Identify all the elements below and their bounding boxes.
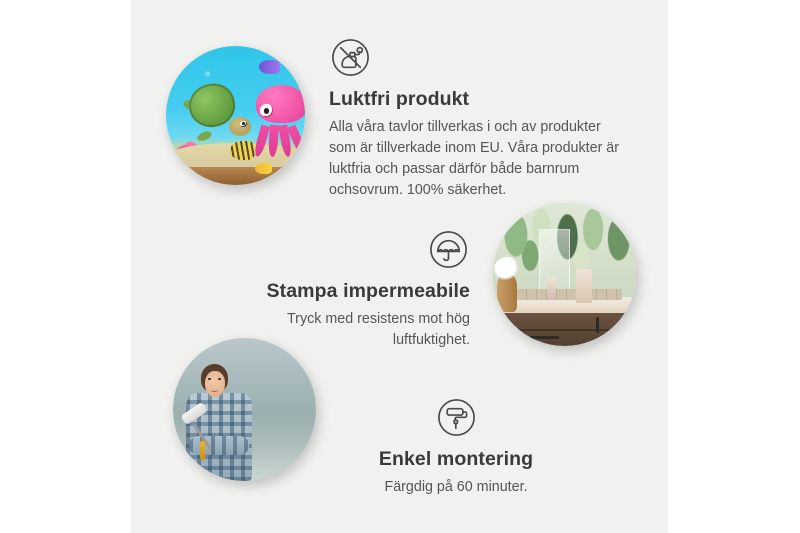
crossed-arms — [189, 436, 249, 455]
octopus — [249, 85, 305, 146]
feature-title: Luktfri produkt — [329, 88, 629, 111]
sea-floor-strip — [166, 167, 305, 185]
smile — [211, 387, 219, 392]
cabinet-handle — [596, 317, 599, 333]
soap-dispenser — [547, 277, 556, 300]
underwater-scene-art — [166, 46, 305, 185]
paint-roller-icon — [435, 396, 478, 439]
feature-description: Färgdig på 60 minuter. — [331, 477, 581, 498]
feature-text-stampa-impermeabile: Stampa impermeabile Tryck med resistens … — [216, 228, 470, 351]
umbrella-icon — [427, 228, 470, 271]
underwater-cartoon-circle-image — [166, 46, 305, 185]
face — [205, 371, 225, 397]
white-flowers — [494, 257, 521, 281]
bathroom-scene-art — [493, 203, 636, 346]
feature-description: Alla våra tavlor tillverkas i och av pro… — [329, 117, 629, 201]
yellow-striped-fish — [230, 141, 255, 160]
feature-title: Stampa impermeabile — [216, 280, 470, 303]
feature-text-enkel-montering: Enkel montering Färgdig på 60 minuter. — [331, 396, 581, 498]
woman-figure — [184, 364, 261, 481]
tissue-box — [576, 269, 592, 303]
forest-scene-art — [173, 338, 316, 481]
bathroom-botanical-wallpaper-circle-image — [493, 203, 636, 346]
drawer-divider — [502, 329, 636, 331]
woman-paint-roller-forest-circle-image — [173, 338, 316, 481]
small-yellow-fish — [255, 163, 272, 174]
feature-title: Enkel montering — [331, 448, 581, 471]
sea-turtle — [185, 82, 249, 138]
yellow-tool — [200, 441, 205, 460]
feature-text-luktfri-produkt: Luktfri produkt Alla våra tavlor tillver… — [329, 36, 629, 201]
blue-fish — [259, 60, 280, 74]
no-fragrance-icon — [329, 36, 372, 79]
drawer-handle — [530, 336, 559, 339]
screenshot-root: Luktfri produkt Alla våra tavlor tillver… — [0, 0, 800, 533]
